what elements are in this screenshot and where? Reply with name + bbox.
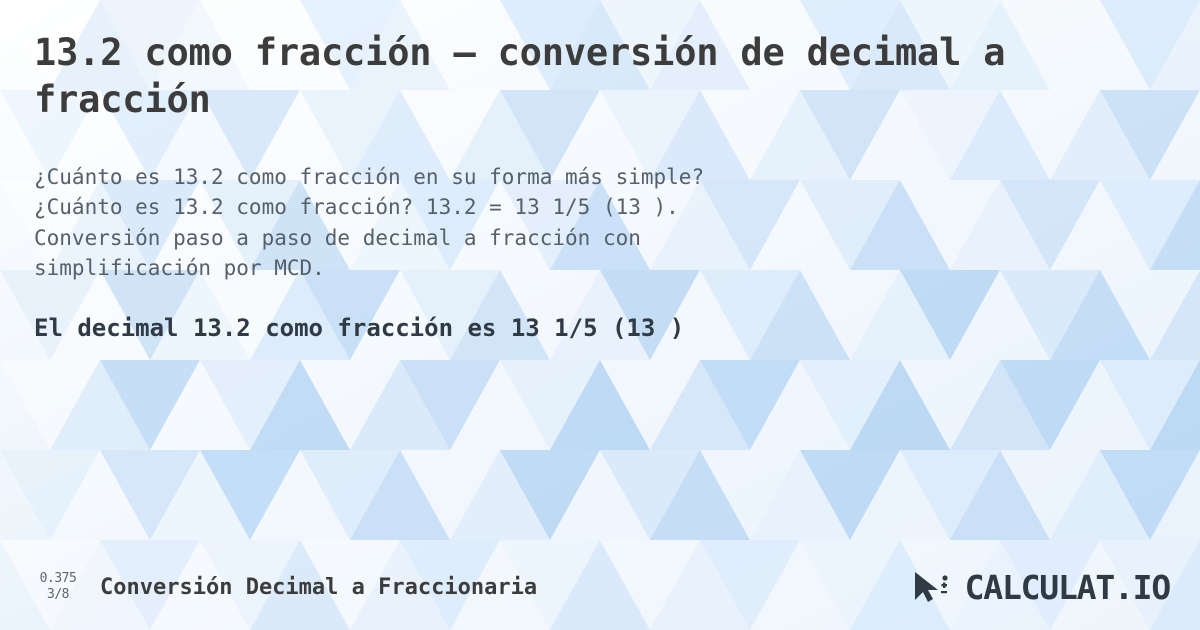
fraction-icon-numerator: 0.375 [40,571,77,587]
card-footer: 0.375 3/8 Conversión Decimal a Fracciona… [0,544,1200,630]
brand-text: CALCULAT.IO [965,568,1170,607]
footer-left-group: 0.375 3/8 Conversión Decimal a Fracciona… [30,571,537,604]
answer-statement: El decimal 13.2 como fracción es 13 1/5 … [34,314,1166,342]
page-title: 13.2 como fracción – conversión de decim… [34,30,1094,124]
footer-title: Conversión Decimal a Fraccionaria [100,575,537,600]
description-line-4: simplificación por MCD. [34,253,1054,283]
fraction-icon-denominator: 3/8 [47,587,69,603]
description-line-3: Conversión paso a paso de decimal a frac… [34,223,1054,253]
brand-logo: CALCULAT.IO [911,568,1170,607]
description-line-1: ¿Cuánto es 13.2 como fracción en su form… [34,162,1054,192]
og-image-card: 13.2 como fracción – conversión de decim… [0,0,1200,630]
card-content: 13.2 como fracción – conversión de decim… [0,0,1200,342]
calculator-cursor-icon [911,570,957,604]
page-description: ¿Cuánto es 13.2 como fracción en su form… [34,162,1054,284]
description-line-2: ¿Cuánto es 13.2 como fracción? 13.2 = 13… [34,192,1054,222]
fraction-icon: 0.375 3/8 [30,571,86,604]
